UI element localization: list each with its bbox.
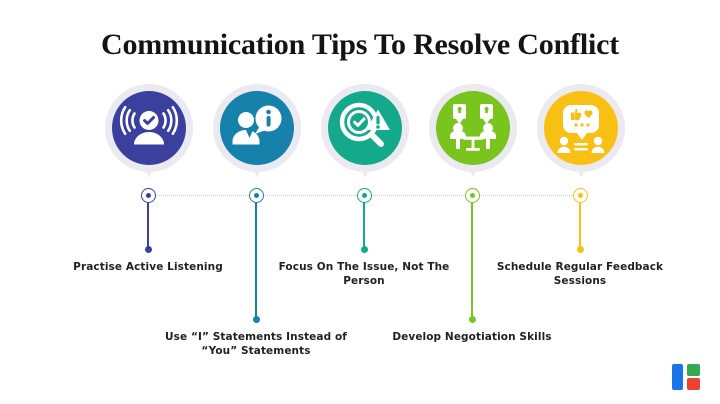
icon-pin-2	[213, 84, 301, 180]
connector-stem-2	[255, 196, 258, 320]
infographic-canvas: Communication Tips To Resolve Conflict	[0, 0, 720, 404]
node-center-dot	[578, 193, 583, 198]
icon-pin-3	[321, 84, 409, 180]
page-title: Communication Tips To Resolve Conflict	[0, 28, 720, 62]
feedback-rating-people-icon	[544, 91, 618, 165]
icon-pin-4	[429, 84, 517, 180]
node-center-dot	[470, 193, 475, 198]
three-square-logo	[672, 364, 702, 390]
timeline-node-1	[141, 188, 156, 203]
connector-end-dot	[253, 316, 260, 323]
magnifier-check-warning-icon	[328, 91, 402, 165]
tip-label-4: Develop Negotiation Skills	[377, 330, 567, 344]
node-center-dot	[362, 193, 367, 198]
tip-label-3: Focus On The Issue, Not The Person	[269, 260, 459, 288]
tip-label-1: Practise Active Listening	[53, 260, 243, 274]
icon-pin-5	[537, 84, 625, 180]
connector-stem-5	[579, 196, 582, 250]
connector-end-dot	[361, 246, 368, 253]
connector-end-dot	[145, 246, 152, 253]
node-center-dot	[254, 193, 259, 198]
timeline-node-4	[465, 188, 480, 203]
person-speech-bubble-info-icon	[220, 91, 294, 165]
two-people-negotiation-table-icon	[436, 91, 510, 165]
icon-pin-1	[105, 84, 193, 180]
connector-end-dot	[577, 246, 584, 253]
timeline-node-2	[249, 188, 264, 203]
node-center-dot	[146, 193, 151, 198]
connector-end-dot	[469, 316, 476, 323]
connector-stem-3	[363, 196, 366, 250]
logo-blue-square	[672, 364, 683, 390]
connector-stem-1	[147, 196, 150, 250]
logo-red-square	[687, 378, 700, 390]
timeline-node-5	[573, 188, 588, 203]
connector-stem-4	[471, 196, 474, 320]
timeline-node-3	[357, 188, 372, 203]
person-listening-soundwaves-check-icon	[112, 91, 186, 165]
tip-label-2: Use “I” Statements Instead of “You” Stat…	[161, 330, 351, 358]
tip-label-5: Schedule Regular Feedback Sessions	[485, 260, 675, 288]
logo-green-square	[687, 364, 700, 376]
